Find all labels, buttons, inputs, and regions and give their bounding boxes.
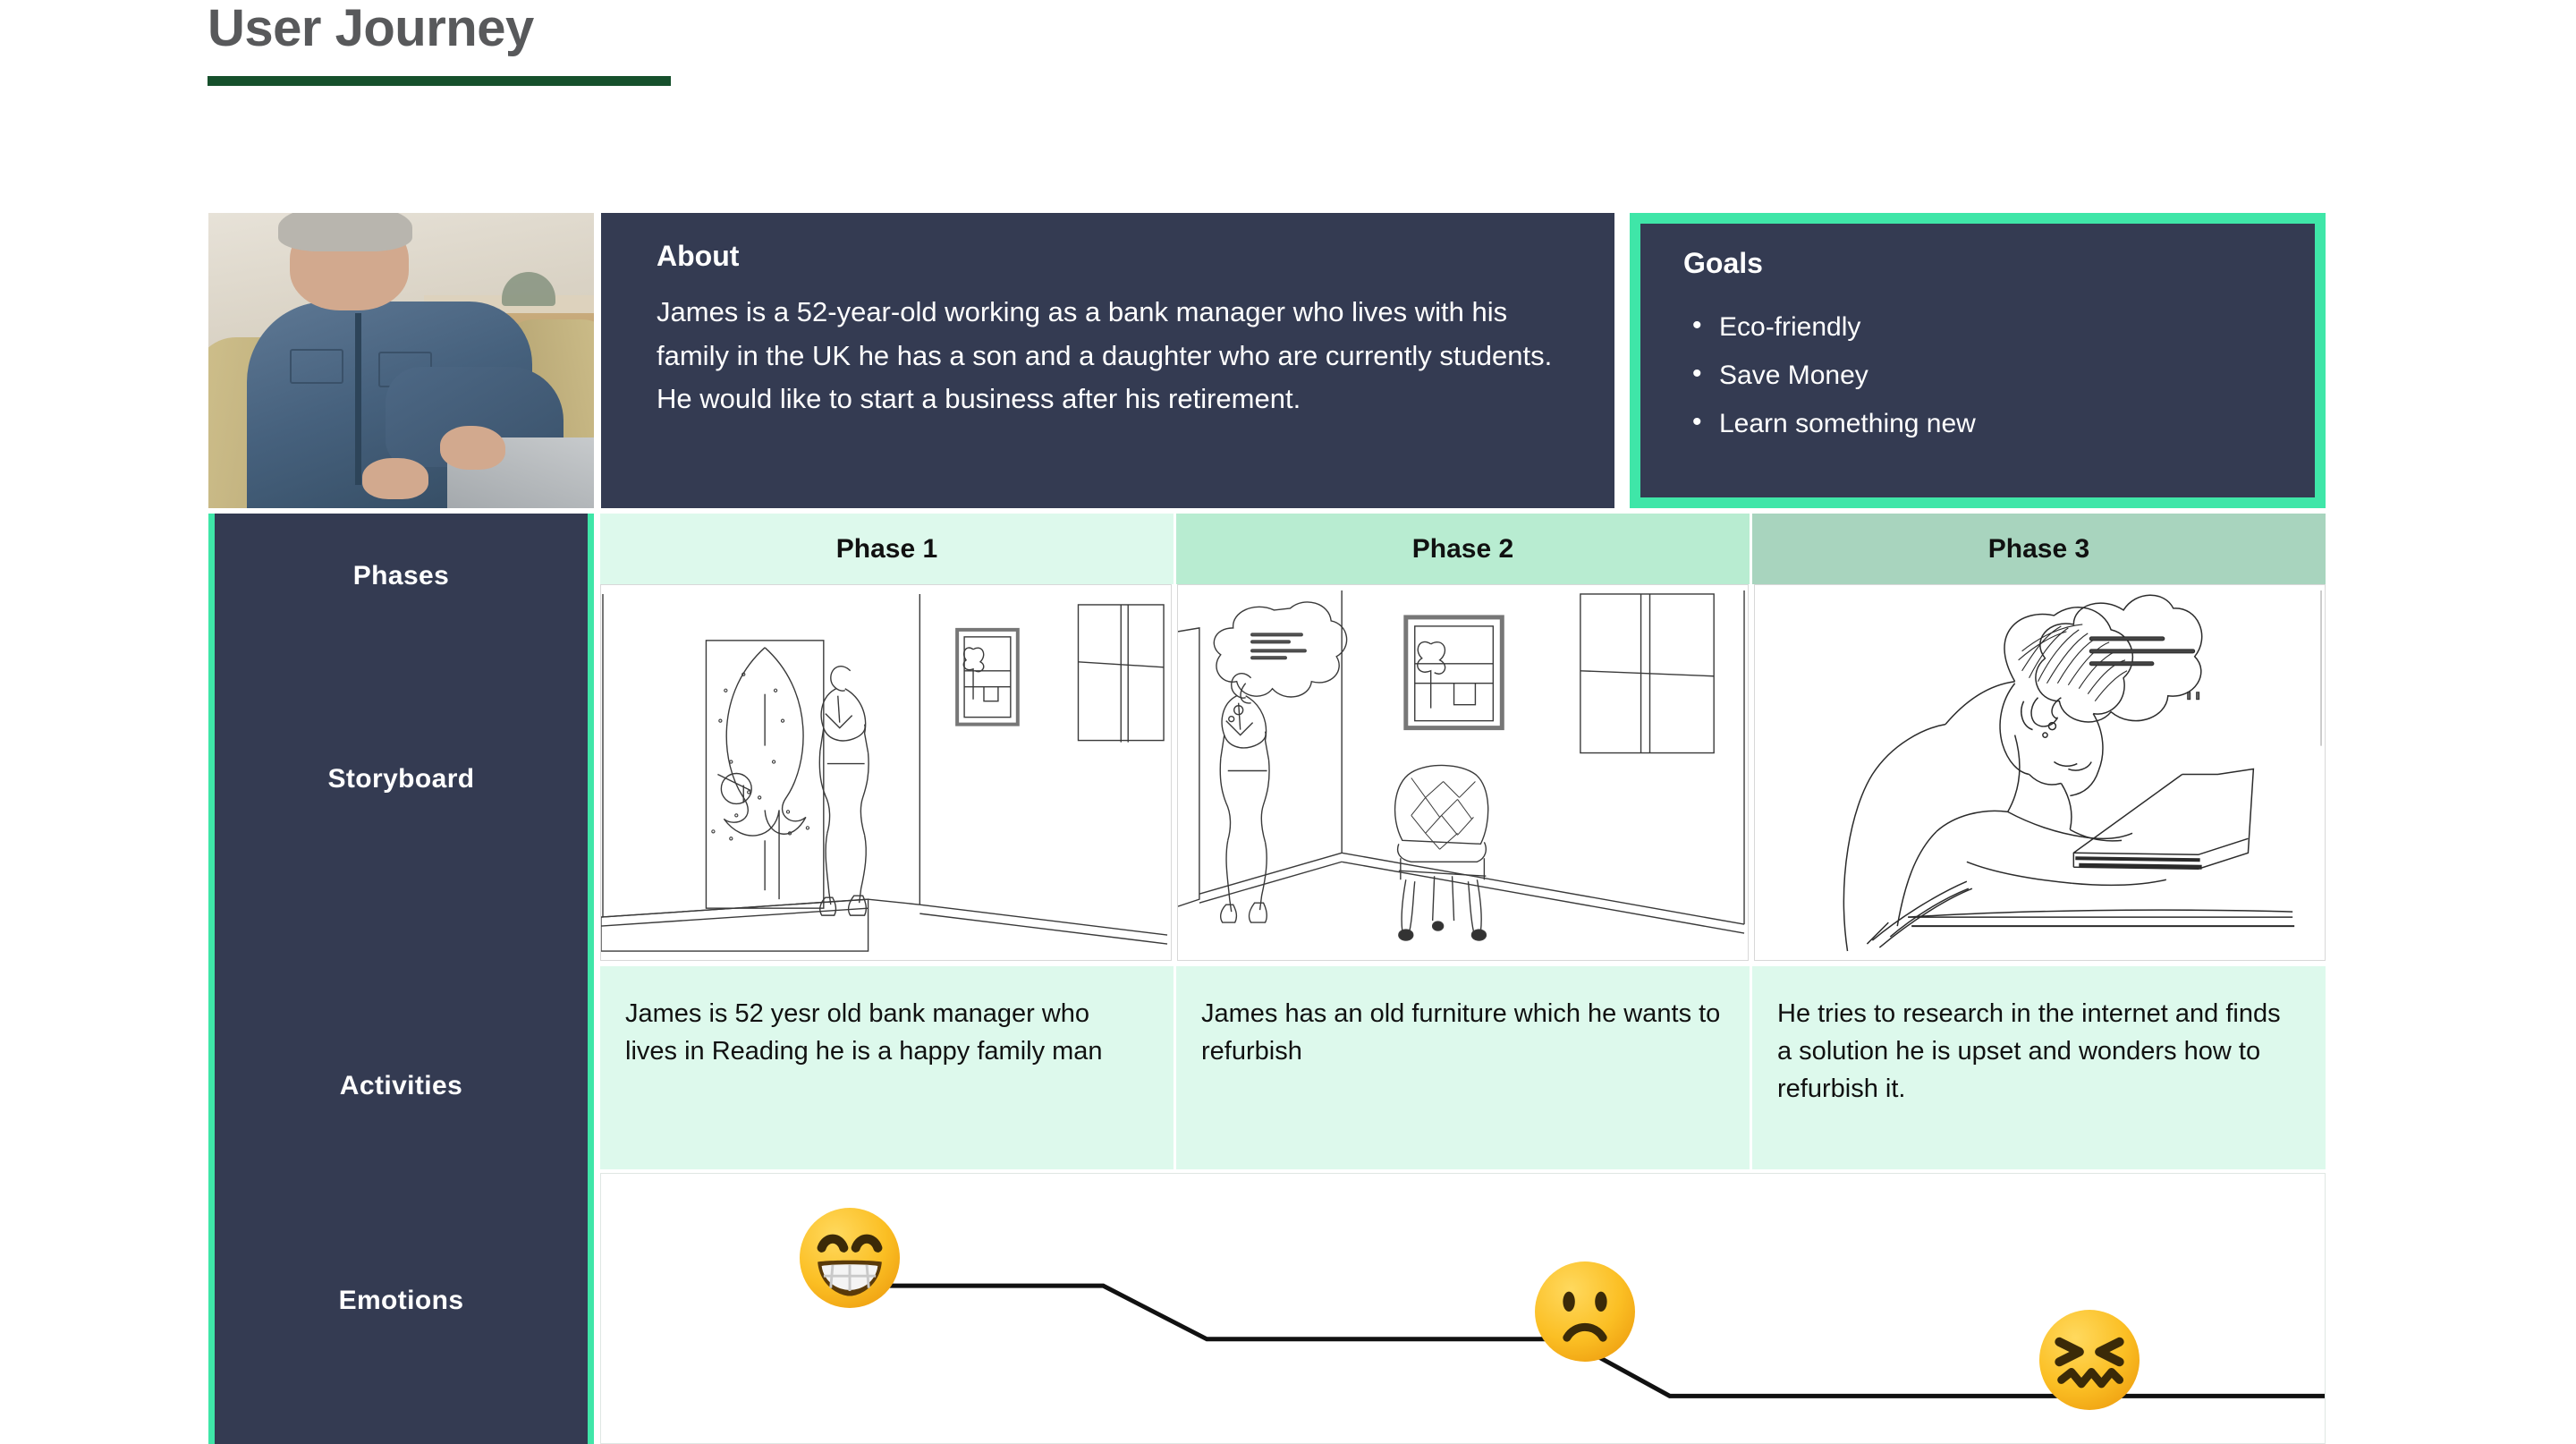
row-label-emotions: Emotions: [215, 1286, 588, 1316]
phase-header-2[interactable]: Phase 2: [1176, 514, 1752, 584]
storyboard-row: [600, 584, 2326, 961]
journey-grid: Phases Storyboard Activities Emotions Ph…: [208, 514, 2326, 1444]
emotions-row: [600, 1173, 2326, 1444]
row-label-sidebar: Phases Storyboard Activities Emotions: [208, 514, 594, 1444]
persona-photo: [208, 213, 594, 508]
emotion-emoji-grinning: [800, 1208, 900, 1308]
storyboard-panel-1: [600, 584, 1172, 961]
photo-shirt-pocket-left: [290, 349, 343, 385]
photo-person-hand-right: [440, 426, 505, 471]
storyboard-panel-2: [1177, 584, 1749, 961]
title-underline-rule: [208, 76, 671, 86]
goals-heading: Goals: [1683, 247, 2288, 280]
goal-item: Eco-friendly: [1683, 303, 2288, 352]
page-title-block: User Journey: [208, 2, 671, 86]
emotion-emoji-frowning: [1535, 1261, 1635, 1362]
goals-card: Goals Eco-friendly Save Money Learn some…: [1630, 213, 2326, 508]
about-body-text: James is a 52-year-old working as a bank…: [657, 291, 1579, 421]
row-label-phases: Phases: [215, 561, 588, 591]
phase-header-3[interactable]: Phase 3: [1752, 514, 2326, 584]
phase-header-row: Phase 1 Phase 2 Phase 3: [600, 514, 2326, 584]
photo-person-hair: [278, 213, 413, 251]
row-label-storyboard: Storyboard: [215, 764, 588, 794]
photo-person-hand-left: [362, 458, 428, 499]
activity-cell-1: James is 52 yesr old bank manager who li…: [600, 966, 1176, 1169]
photo-shirt-placket: [355, 313, 361, 484]
phase-header-1[interactable]: Phase 1: [600, 514, 1176, 584]
activity-cell-2: James has an old furniture which he want…: [1176, 966, 1752, 1169]
page-title: User Journey: [208, 2, 671, 56]
about-heading: About: [657, 240, 1579, 273]
storyboard-panel-3: [1754, 584, 2326, 961]
storyboard-sketch-3: [1755, 585, 2325, 960]
goal-item: Learn something new: [1683, 400, 2288, 448]
emotion-emoji-confounded: [2039, 1310, 2140, 1410]
activities-row: James is 52 yesr old bank manager who li…: [600, 966, 2326, 1169]
goals-list: Eco-friendly Save Money Learn something …: [1683, 303, 2288, 448]
storyboard-sketch-1: [601, 585, 1171, 960]
activity-cell-3: He tries to research in the internet and…: [1752, 966, 2326, 1169]
goal-item: Save Money: [1683, 352, 2288, 400]
row-label-activities: Activities: [215, 1071, 588, 1101]
storyboard-sketch-2: [1178, 585, 1748, 960]
about-card: About James is a 52-year-old working as …: [601, 213, 1614, 508]
